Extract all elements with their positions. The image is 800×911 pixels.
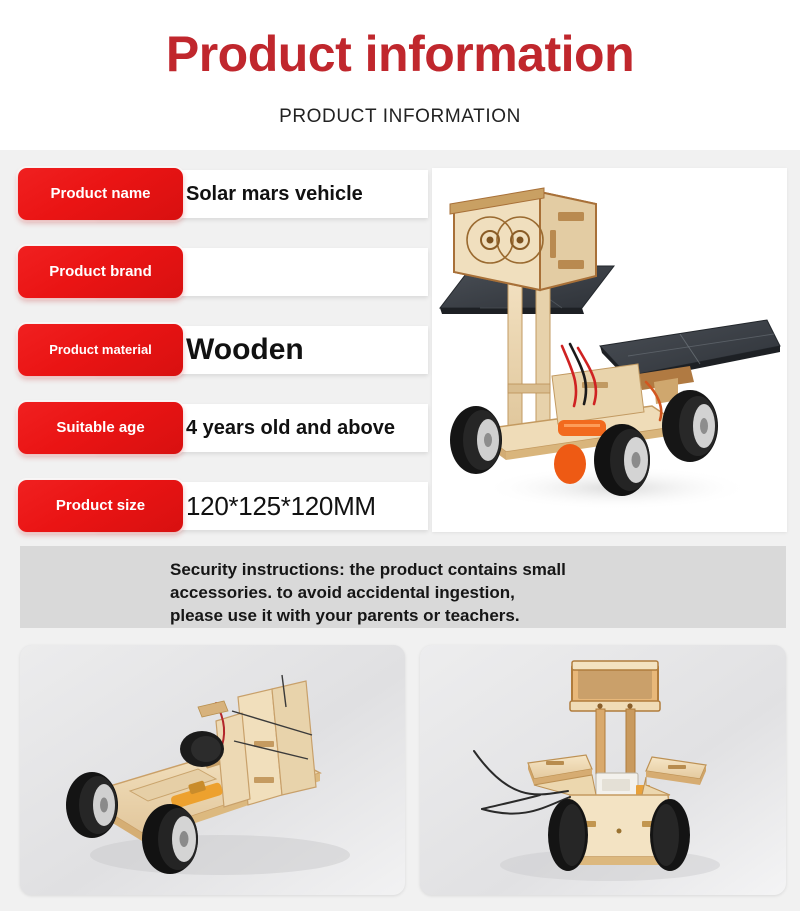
security-instructions-text: Security instructions: the product conta… [170,558,772,627]
spec-value-product-name: Solar mars vehicle [186,183,363,206]
page-header: Product information PRODUCT INFORMATION [0,0,800,150]
security-line-1: Security instructions: the product conta… [170,558,772,581]
spec-label-product-name: Product name [18,168,183,220]
spec-label-product-brand: Product brand [18,246,183,298]
spec-row-product-name: Solar mars vehicle Product name [18,168,428,220]
product-information-page: Product information PRODUCT INFORMATION … [0,0,800,911]
spec-label-suitable-age: Suitable age [18,402,183,454]
spec-value-suitable-age: 4 years old and above [186,417,395,440]
rover-head-unit [450,188,596,290]
rover-front-view-photo [420,645,786,895]
spec-value-product-size: 120*125*120MM [186,491,376,522]
security-line-3: please use it with your parents or teach… [170,604,772,627]
spec-label-product-size: Product size [18,480,183,532]
spec-label-product-material: Product material [18,324,183,376]
rover-head-unit-front [570,661,660,711]
solar-mars-vehicle-assembled-photo [432,168,787,532]
spec-value-product-material: Wooden [186,333,304,367]
page-title: Product information [0,28,800,81]
rover-chassis-side-photo [20,645,405,895]
security-line-2: accessories. to avoid accidental ingesti… [170,581,772,604]
spec-row-product-size: 120*125*120MM Product size [18,480,428,532]
page-subtitle: PRODUCT INFORMATION [0,106,800,128]
spec-row-product-material: Wooden Product material [18,324,428,376]
spec-row-suitable-age: 4 years old and above Suitable age [18,402,428,454]
security-instructions-band: Security instructions: the product conta… [20,546,786,628]
product-spec-list: Solar mars vehicle Product name Product … [18,168,428,558]
spec-row-product-brand: Product brand [18,246,428,298]
